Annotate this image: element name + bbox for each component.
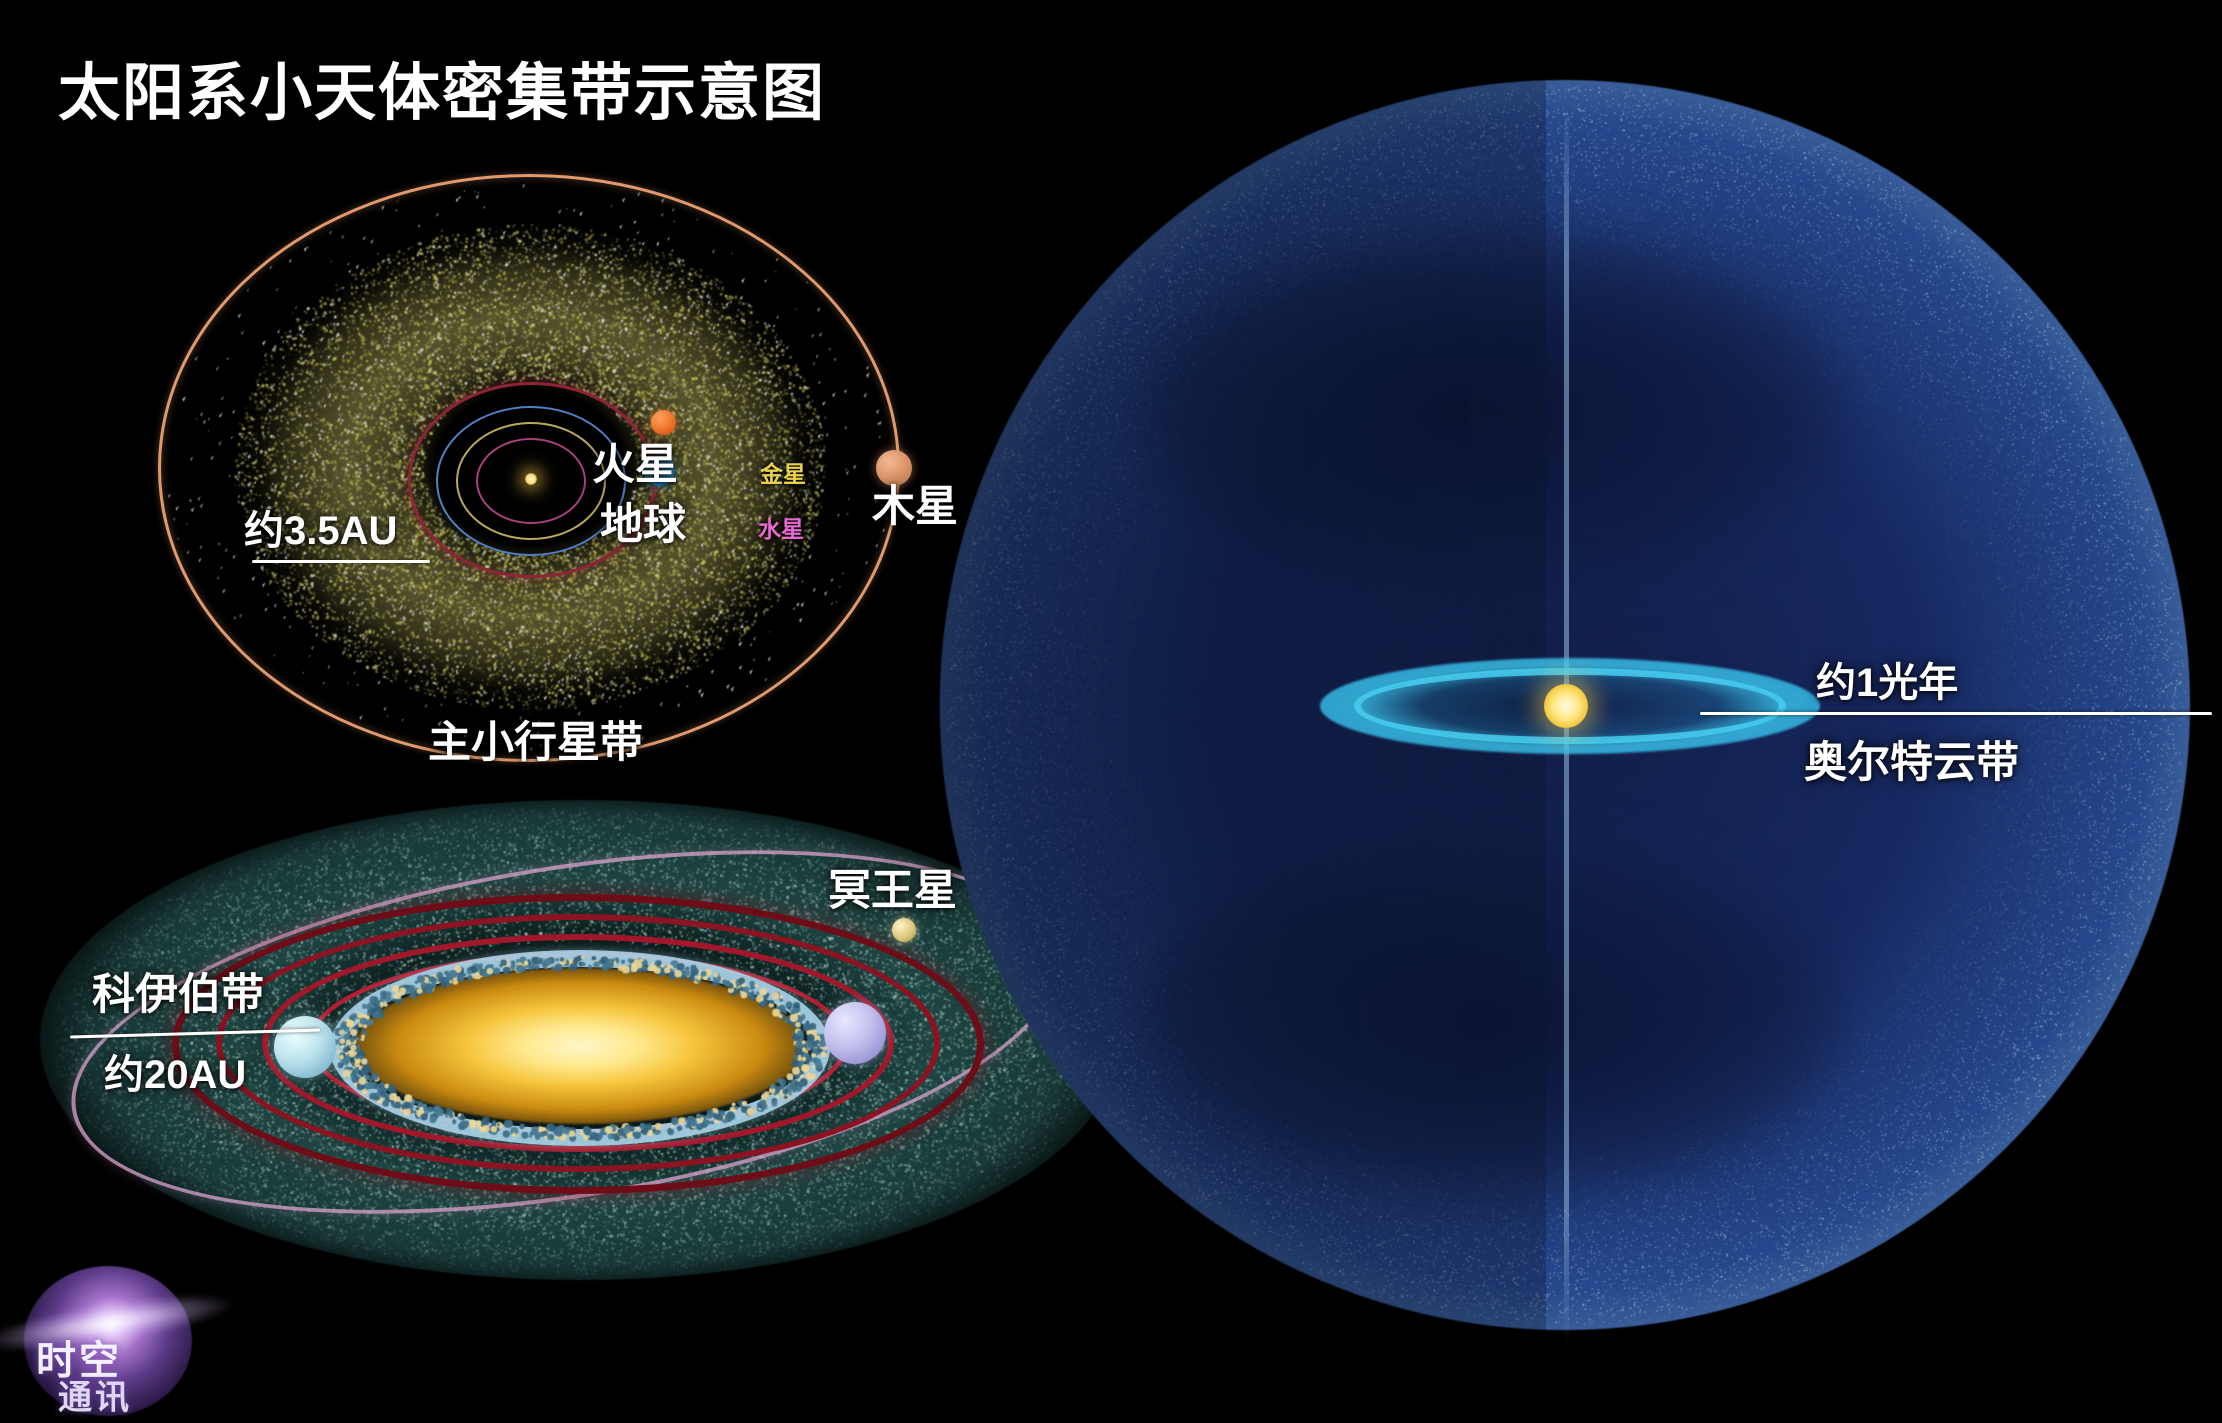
pluto-label: 冥王星 <box>828 856 957 918</box>
oort-cloud-panel <box>940 80 2222 1370</box>
inner-distance-label: 约3.5AU <box>244 498 397 556</box>
sun-icon <box>525 473 537 485</box>
neptune-planet-icon <box>274 1016 336 1078</box>
inner-solar-system-panel: 金星 水星 <box>150 160 910 780</box>
watermark-logo: 时空 通讯 <box>24 1266 192 1416</box>
page-title: 太阳系小天体密集带示意图 <box>58 42 826 132</box>
inner-distance-underline <box>252 560 430 563</box>
uranus-planet-icon <box>824 1002 886 1064</box>
watermark-line2: 通讯 <box>58 1370 132 1419</box>
venus-label: 金星 <box>760 455 806 489</box>
oort-belt-label: 奥尔特云带 <box>1804 728 2019 790</box>
oort-distance-label: 约1光年 <box>1816 650 1958 708</box>
oort-label-underline <box>1700 712 2212 715</box>
kuiper-distance-label: 约20AU <box>104 1042 246 1100</box>
mercury-label: 水星 <box>758 510 804 544</box>
diagram-canvas: 太阳系小天体密集带示意图 金星 水星 火星 地球 约3.5AU 主小行星带 木星 <box>0 0 2222 1423</box>
kuiper-belt-label: 科伊伯带 <box>92 960 264 1022</box>
oort-core-solar-system <box>1320 640 1820 770</box>
mars-label: 火星 <box>592 430 678 492</box>
oort-core-sun-icon <box>1544 684 1588 728</box>
inner-asteroid-ring-dots <box>330 950 830 1146</box>
earth-label: 地球 <box>600 490 686 552</box>
main-belt-label: 主小行星带 <box>428 708 643 770</box>
pluto-planet-icon <box>892 918 916 942</box>
